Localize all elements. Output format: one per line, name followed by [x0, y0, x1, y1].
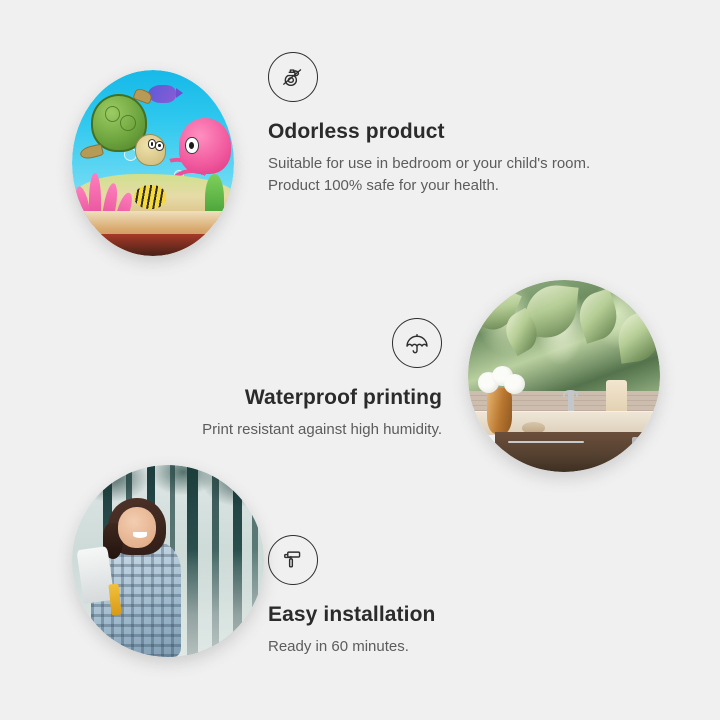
forest-wallpaper-installer-photo[interactable] [72, 465, 264, 657]
feature-description: Suitable for use in bedroom or your chil… [268, 153, 608, 197]
photo-clip [72, 70, 234, 256]
turtle-head [135, 134, 165, 165]
paint-roller-icon [268, 535, 318, 585]
feature-title: Easy installation [268, 603, 588, 627]
feature-title: Waterproof printing [120, 386, 442, 410]
turtle-eye [155, 141, 164, 150]
umbrella-icon [392, 318, 442, 368]
feature-block-odorless-product: Odorless product Suitable for use in bed… [268, 52, 608, 197]
bathroom-tropical-wallpaper-photo[interactable] [468, 280, 660, 472]
feature-description: Ready in 60 minutes. [268, 636, 588, 658]
feature-description: Print resistant against high humidity. [120, 419, 442, 441]
octopus-eye [185, 137, 198, 154]
photo-clip [468, 280, 660, 472]
octopus-body [179, 118, 231, 174]
woman-smile [133, 532, 146, 538]
photo-clip [72, 465, 264, 657]
forest-canopy [72, 465, 264, 553]
furniture-strip [72, 234, 234, 256]
white-roses [476, 364, 526, 395]
feature-title: Odorless product [268, 120, 608, 144]
feature-block-easy-installation: Easy installation Ready in 60 minutes. [268, 535, 588, 658]
leaf-shape [573, 288, 624, 343]
underwater-cartoon-wallpaper-photo[interactable] [72, 70, 234, 256]
wooden-vanity-cabinet [495, 432, 660, 472]
woman-face [118, 507, 156, 547]
turtle-illustration [87, 94, 163, 168]
feature-highlights-panel: Odorless product Suitable for use in bed… [0, 0, 720, 720]
no-perfume-icon [268, 52, 318, 102]
feature-block-waterproof-printing: Waterproof printing Print resistant agai… [120, 318, 442, 441]
leaf-shape [615, 310, 660, 364]
